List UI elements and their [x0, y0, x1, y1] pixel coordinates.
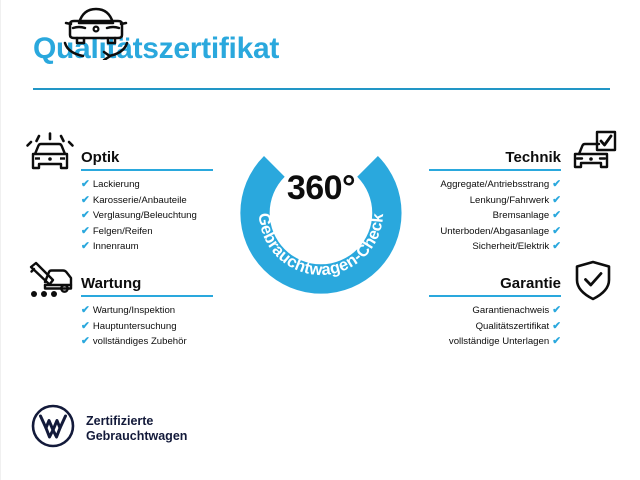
list-item-label: Sicherheit/Elektrik	[472, 241, 549, 252]
check-icon: ✔	[81, 320, 90, 332]
list-item-label: Verglasung/Beleuchtung	[93, 210, 197, 221]
section-title-garantie: Garantie	[500, 275, 561, 292]
section-header: Optik	[81, 140, 213, 168]
check-icon: ✔	[552, 178, 561, 190]
list-item-label: Bremsanlage	[493, 210, 550, 221]
section-header: Technik	[429, 140, 561, 168]
list-item-label: Lackierung	[93, 179, 140, 190]
check-icon: ✔	[552, 194, 561, 206]
car-rotate-360-icon	[58, 2, 134, 60]
list-item: Lenkung/Fahrwerk✔	[429, 193, 561, 209]
check-icon: ✔	[81, 304, 90, 316]
section-wartung: Wartung ✔Wartung/Inspektion ✔Hauptunters…	[81, 266, 213, 350]
section-divider	[429, 169, 561, 171]
list-item: vollständige Unterlagen✔	[429, 334, 561, 350]
list-item: Qualitätszertifikat✔	[429, 319, 561, 335]
shield-check-icon	[573, 260, 613, 307]
check-icon: ✔	[81, 178, 90, 190]
list-item-label: Innenraum	[93, 241, 139, 252]
car-checkbox-inspection-icon	[569, 130, 617, 179]
volkswagen-logo-icon	[31, 404, 75, 453]
quality-certificate-page: Qualitätszertifikat Optik ✔Lackierung ✔K…	[0, 0, 640, 480]
list-item: Bremsanlage✔	[429, 208, 561, 224]
checklist-wartung: ✔Wartung/Inspektion ✔Hauptuntersuchung ✔…	[81, 294, 213, 350]
section-header: Garantie	[429, 266, 561, 294]
section-divider	[81, 169, 213, 171]
section-header: Wartung	[81, 266, 213, 294]
list-item: ✔Hauptuntersuchung	[81, 319, 213, 335]
section-title-technik: Technik	[505, 149, 561, 166]
check-icon: ✔	[552, 320, 561, 332]
footer-branding: Zertifizierte Gebrauchtwagen	[31, 404, 187, 453]
wrench-car-service-icon	[25, 258, 75, 305]
section-technik: Technik Aggregate/Antriebsstrang✔ Lenkun…	[429, 140, 561, 255]
section-divider	[81, 295, 213, 297]
list-item-label: Aggregate/Antriebsstrang	[440, 179, 549, 190]
check-icon: ✔	[552, 209, 561, 221]
section-divider	[429, 295, 561, 297]
checklist-technik: Aggregate/Antriebsstrang✔ Lenkung/Fahrwe…	[429, 168, 561, 255]
check-icon: ✔	[552, 304, 561, 316]
list-item: Aggregate/Antriebsstrang✔	[429, 177, 561, 193]
footer-label: Zertifizierte Gebrauchtwagen	[86, 414, 187, 444]
section-garantie: Garantie Garantienachweis✔ Qualitätszert…	[429, 266, 561, 350]
section-title-optik: Optik	[81, 149, 119, 166]
badge-360-gebrauchtwagen-check: Gebrauchtwagen-Check 360°	[226, 118, 416, 308]
list-item-label: vollständiges Zubehör	[93, 336, 187, 347]
list-item: ✔Karosserie/Anbauteile	[81, 193, 213, 209]
check-icon: ✔	[552, 225, 561, 237]
checklist-garantie: Garantienachweis✔ Qualitätszertifikat✔ v…	[429, 294, 561, 350]
title-divider	[33, 88, 610, 90]
check-icon: ✔	[81, 335, 90, 347]
list-item-label: Unterboden/Abgasanlage	[440, 226, 549, 237]
check-icon: ✔	[552, 335, 561, 347]
list-item: ✔Felgen/Reifen	[81, 224, 213, 240]
checklist-optik: ✔Lackierung ✔Karosserie/Anbauteile ✔Verg…	[81, 168, 213, 255]
list-item-label: Felgen/Reifen	[93, 226, 153, 237]
list-item: ✔Lackierung	[81, 177, 213, 193]
section-title-wartung: Wartung	[81, 275, 141, 292]
list-item-label: Karosserie/Anbauteile	[93, 195, 187, 206]
list-item: ✔vollständiges Zubehör	[81, 334, 213, 350]
check-icon: ✔	[81, 194, 90, 206]
list-item: ✔Verglasung/Beleuchtung	[81, 208, 213, 224]
check-icon: ✔	[552, 240, 561, 252]
list-item: ✔Innenraum	[81, 239, 213, 255]
list-item: Unterboden/Abgasanlage✔	[429, 224, 561, 240]
list-item: ✔Wartung/Inspektion	[81, 303, 213, 319]
list-item: Sicherheit/Elektrik✔	[429, 239, 561, 255]
check-icon: ✔	[81, 209, 90, 221]
list-item-label: Qualitätszertifikat	[476, 321, 550, 332]
check-icon: ✔	[81, 240, 90, 252]
car-shine-icon	[25, 132, 75, 179]
list-item-label: Lenkung/Fahrwerk	[470, 195, 549, 206]
list-item-label: Wartung/Inspektion	[93, 305, 175, 316]
list-item: Garantienachweis✔	[429, 303, 561, 319]
list-item-label: vollständige Unterlagen	[449, 336, 549, 347]
list-item-label: Garantienachweis	[472, 305, 549, 316]
check-icon: ✔	[81, 225, 90, 237]
section-optik: Optik ✔Lackierung ✔Karosserie/Anbauteile…	[81, 140, 213, 255]
list-item-label: Hauptuntersuchung	[93, 321, 177, 332]
